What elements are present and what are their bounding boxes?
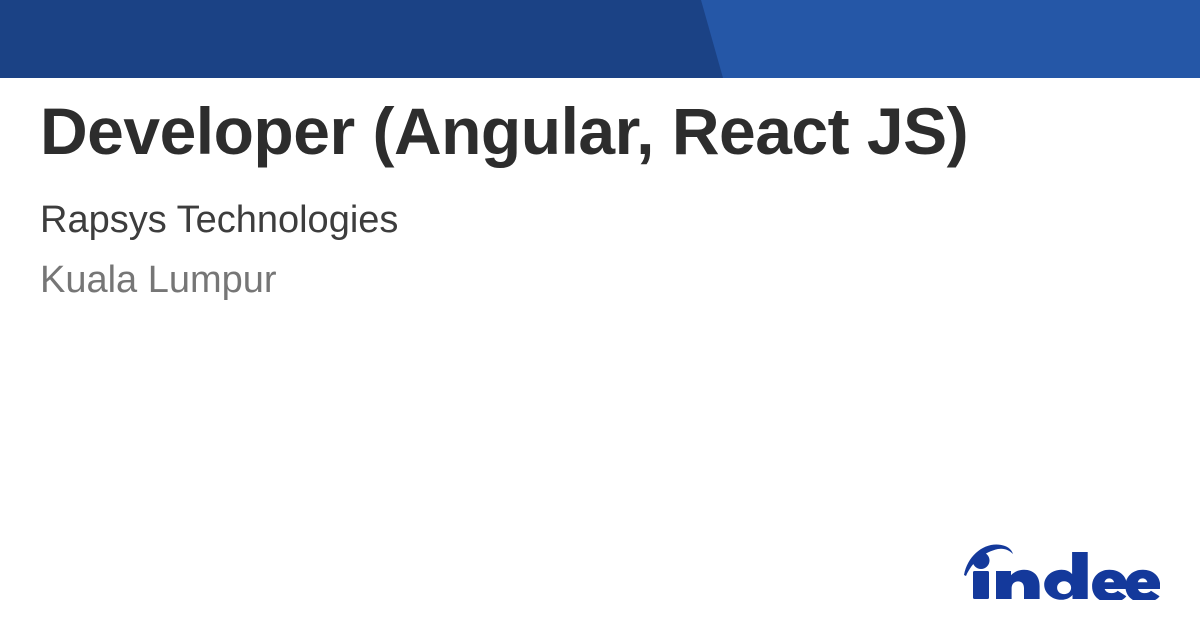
page-title: Developer (Angular, React JS) [40,98,1140,164]
job-location: Kuala Lumpur [40,239,1140,299]
job-info-block: Developer (Angular, React JS) Rapsys Tec… [40,98,1140,299]
company-name: Rapsys Technologies [40,164,1140,239]
header-banner [0,0,1200,78]
indeed-logo [960,538,1160,600]
job-posting-card: Developer (Angular, React JS) Rapsys Tec… [0,0,1200,630]
